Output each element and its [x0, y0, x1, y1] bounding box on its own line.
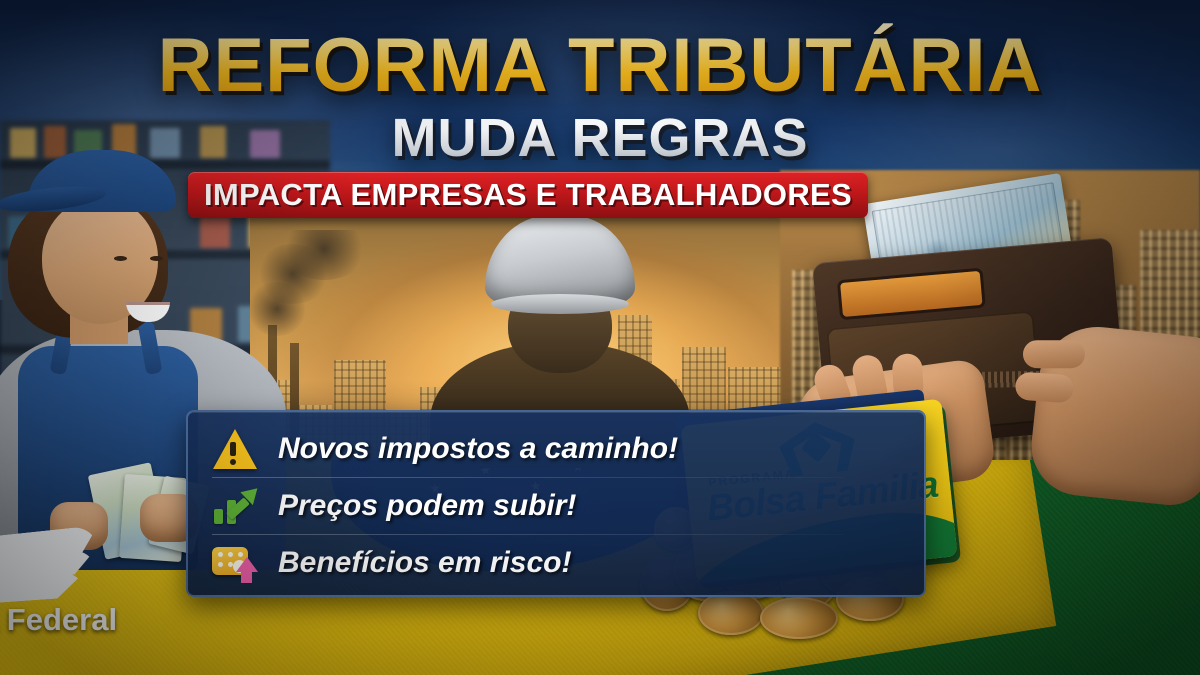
list-item: Preços podem subir!: [188, 477, 924, 534]
list-item: Novos impostos a caminho!: [188, 420, 924, 477]
receita-federal-mark-icon: [0, 528, 116, 602]
warning-triangle-icon: [210, 427, 262, 471]
receita-federal-logo: ita Federal: [0, 528, 196, 640]
receita-federal-label: ita Federal: [0, 602, 117, 638]
benefit-card-icon: [210, 541, 262, 585]
page-title: REFORMA TRIBUTÁRIA: [0, 22, 1200, 109]
list-item: Benefícios em risco!: [188, 534, 924, 591]
promo-banner: ★ ★ ★ ★ ★: [0, 0, 1200, 675]
bullet-label: Preços podem subir!: [278, 489, 576, 523]
bullet-label: Novos impostos a caminho!: [278, 432, 678, 466]
bullet-label: Benefícios em risco!: [278, 546, 571, 580]
impact-banner-label: IMPACTA EMPRESAS E TRABALHADORES: [204, 177, 852, 213]
page-subtitle: MUDA REGRAS: [0, 107, 1200, 169]
impact-banner: IMPACTA EMPRESAS E TRABALHADORES: [188, 172, 868, 218]
key-points-panel: Novos impostos a caminho! Preços podem s…: [186, 410, 926, 597]
growth-arrow-icon: [210, 484, 262, 528]
